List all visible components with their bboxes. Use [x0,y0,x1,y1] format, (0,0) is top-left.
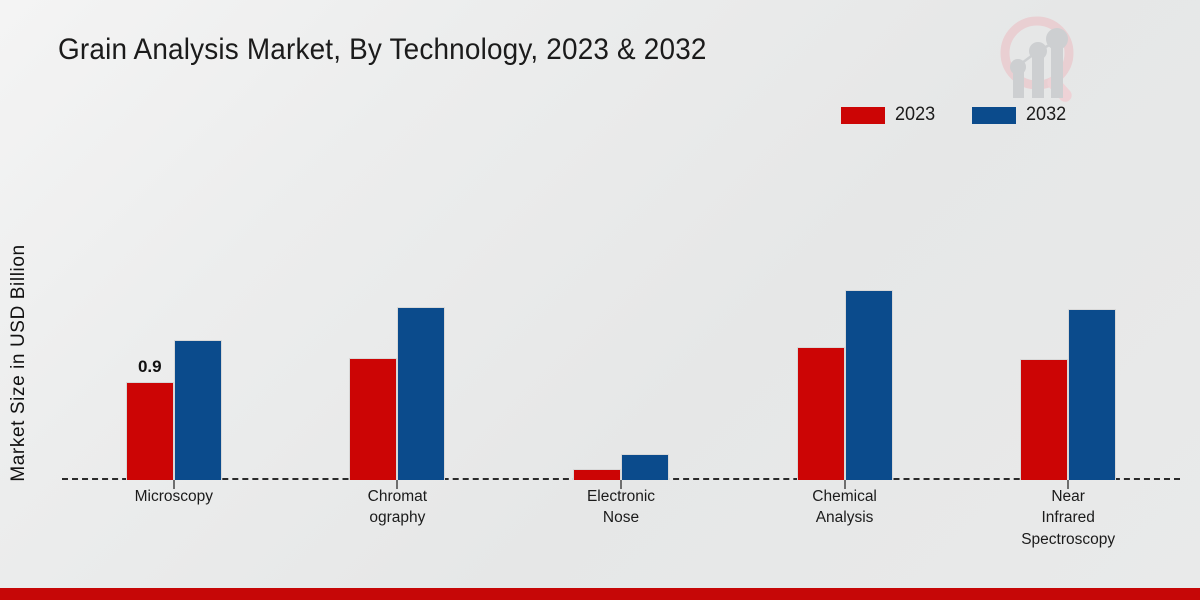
bar-group: Chemical Analysis [733,150,957,480]
bar-group: Near Infrared Spectroscopy [956,150,1180,480]
bar-group: Electronic Nose [509,150,733,480]
x-axis-category-label: Electronic Nose [587,486,655,529]
bar-2023-microscopy[interactable]: 0.9 [126,382,174,480]
x-axis-category-label: Chromat ography [368,486,427,529]
magnifier-bar-chart-logo-icon [985,8,1095,108]
plot-area: 0.9MicroscopyChromat ographyElectronic N… [62,150,1180,480]
bar-pair [573,454,669,480]
legend-swatch-2023 [841,107,885,124]
bar-group: 0.9Microscopy [62,150,286,480]
bar-2032-microscopy[interactable] [174,340,222,480]
bar-groups: 0.9MicroscopyChromat ographyElectronic N… [62,150,1180,480]
chart-legend: 2023 2032 [841,104,1068,126]
legend-label-2023: 2023 [895,104,935,126]
bar-pair [797,290,893,480]
legend-swatch-2032 [972,107,1016,124]
bar-pair: 0.9 [126,340,222,480]
bar-2032-near-infrared-spectroscopy[interactable] [1068,309,1116,480]
x-axis-category-label: Microscopy [135,486,213,507]
x-axis-category-label: Chemical Analysis [812,486,877,529]
chart-canvas: Grain Analysis Market, By Technology, 20… [0,0,1200,600]
bar-pair [349,307,445,480]
bottom-accent-band [0,588,1200,600]
bar-2023-electronic-nose[interactable] [573,469,621,480]
bar-2023-chemical-analysis[interactable] [797,347,845,480]
x-axis-category-label: Near Infrared Spectroscopy [1021,486,1115,550]
bar-value-label: 0.9 [138,357,162,377]
bar-pair [1020,309,1116,480]
y-axis-label: Market Size in USD Billion [8,198,30,528]
bar-group: Chromat ography [286,150,510,480]
legend-item-2023[interactable]: 2023 [841,104,937,126]
bar-2032-chemical-analysis[interactable] [845,290,893,480]
bar-2023-chromat-ography[interactable] [349,358,397,480]
bar-2032-chromat-ography[interactable] [397,307,445,480]
bar-2023-near-infrared-spectroscopy[interactable] [1020,359,1068,480]
legend-item-2032[interactable]: 2032 [972,104,1068,126]
chart-title: Grain Analysis Market, By Technology, 20… [58,33,707,67]
bar-2032-electronic-nose[interactable] [621,454,669,480]
legend-label-2032: 2032 [1026,104,1066,126]
